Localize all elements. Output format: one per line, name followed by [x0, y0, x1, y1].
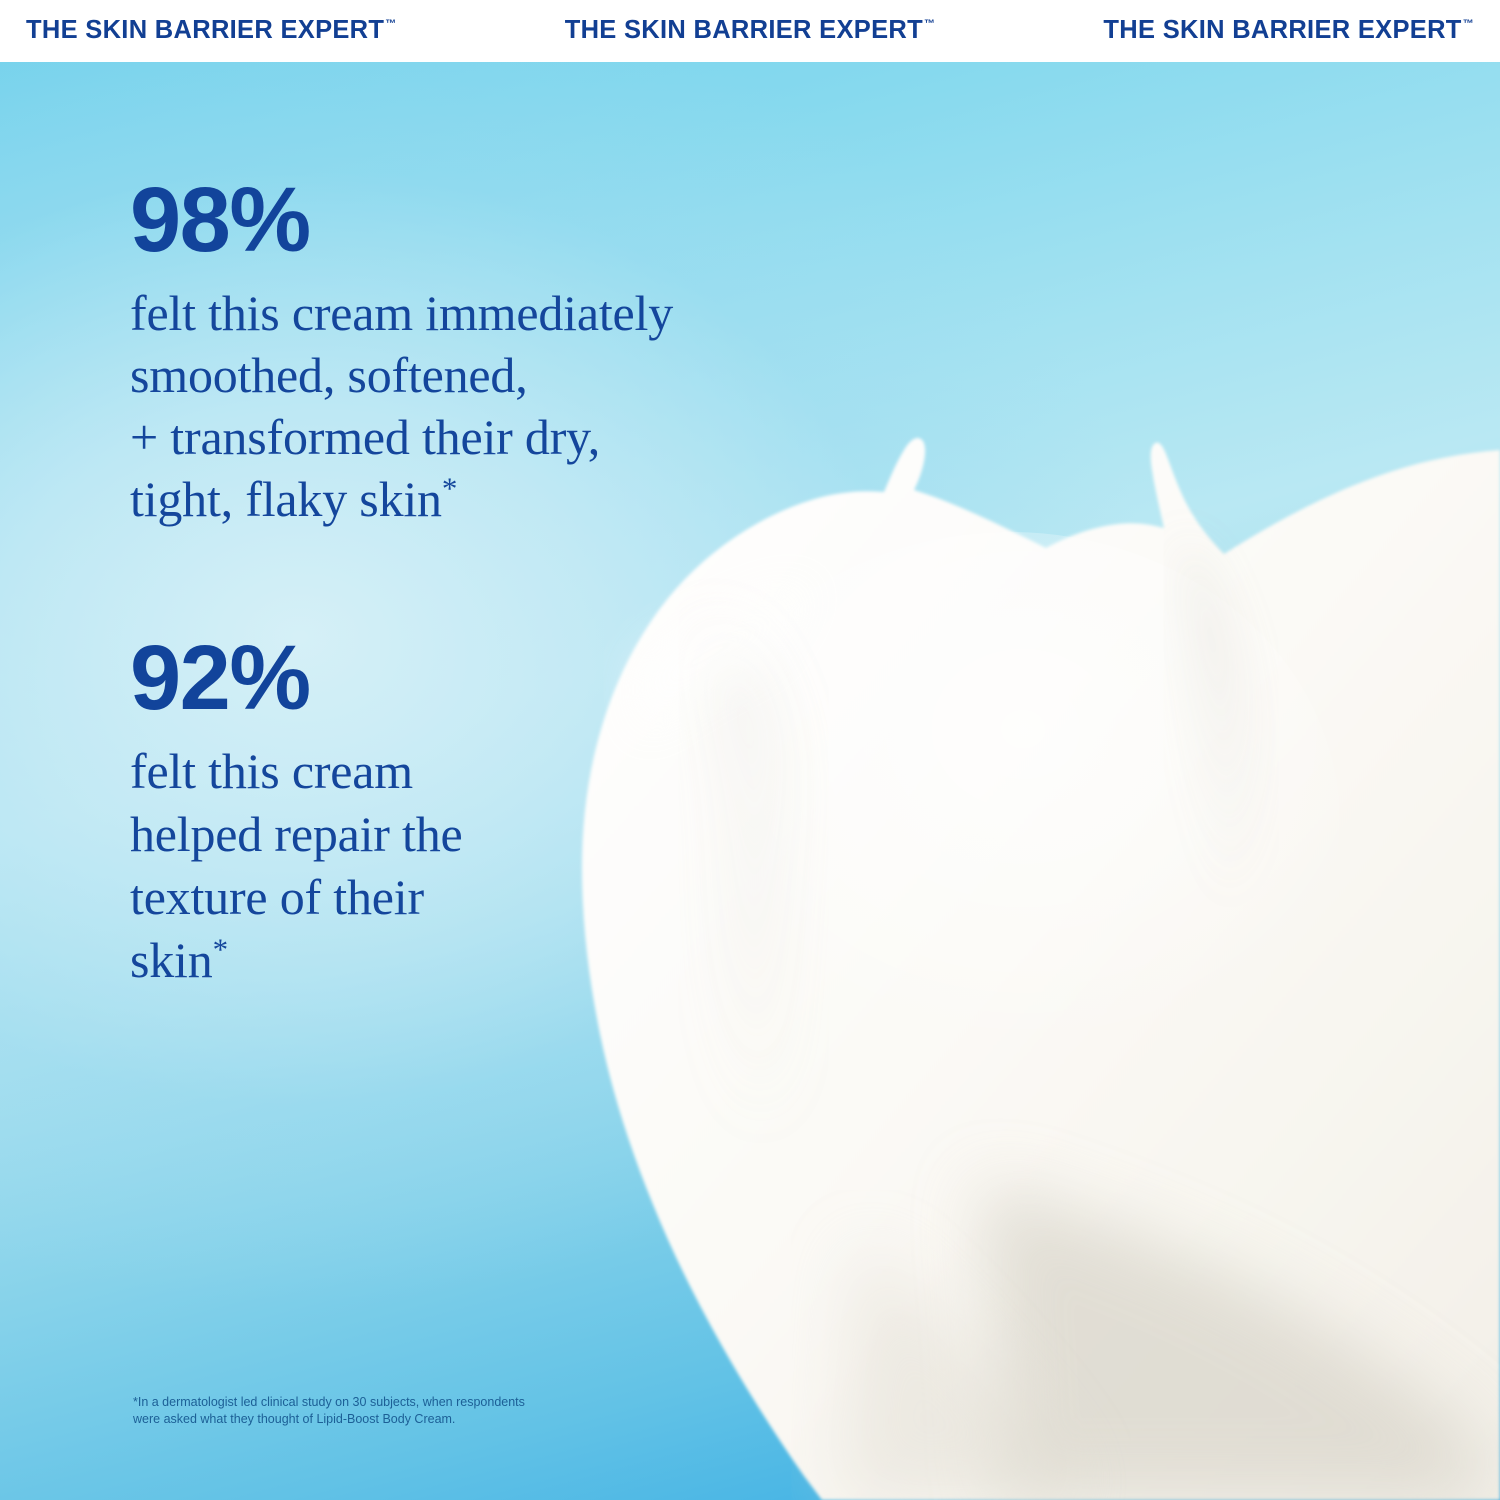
product-marketing-image: THE SKIN BARRIER EXPERT™ THE SKIN BARRIE…	[0, 0, 1500, 1500]
brand-banner: THE SKIN BARRIER EXPERT™ THE SKIN BARRIE…	[0, 0, 1500, 62]
claim-block-92: 92% felt this cream helped repair the te…	[130, 632, 463, 992]
claim-text-92-body: felt this cream helped repair the textur…	[130, 743, 463, 988]
brand-tagline-2: THE SKIN BARRIER EXPERT™	[565, 18, 936, 44]
claim-percentage-98: 98%	[130, 174, 673, 266]
claim-footnote-marker-98: *	[442, 470, 457, 505]
brand-tagline-3: THE SKIN BARRIER EXPERT™	[1103, 18, 1474, 44]
claim-text-98: felt this cream immediately smoothed, so…	[130, 282, 673, 530]
claim-text-92: felt this cream helped repair the textur…	[130, 740, 463, 992]
claim-footnote-marker-92: *	[213, 931, 228, 966]
claim-block-98: 98% felt this cream immediately smoothed…	[130, 174, 673, 530]
brand-tagline-text-2: THE SKIN BARRIER EXPERT	[565, 18, 923, 44]
claim-percentage-92: 92%	[130, 632, 463, 724]
brand-tagline-text-1: THE SKIN BARRIER EXPERT	[26, 18, 384, 44]
brand-tagline-text-3: THE SKIN BARRIER EXPERT	[1103, 18, 1461, 44]
trademark-symbol-1: ™	[385, 19, 396, 30]
claim-text-98-body: felt this cream immediately smoothed, so…	[130, 285, 673, 527]
footnote-disclaimer: *In a dermatologist led clinical study o…	[133, 1394, 693, 1429]
trademark-symbol-3: ™	[1463, 19, 1474, 30]
trademark-symbol-2: ™	[924, 19, 935, 30]
brand-tagline-1: THE SKIN BARRIER EXPERT™	[26, 18, 397, 44]
